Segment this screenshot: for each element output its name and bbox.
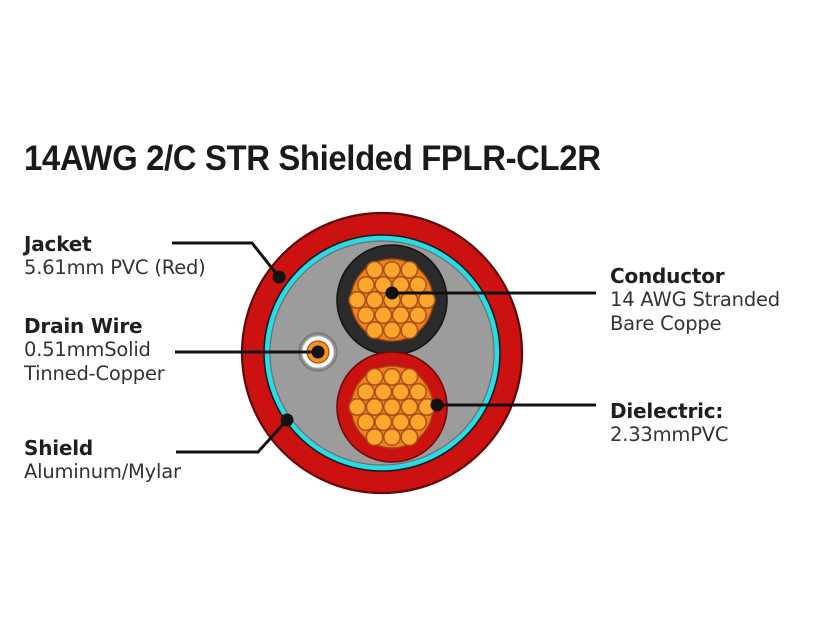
callout-shield: Shield Aluminum/Mylar	[24, 436, 181, 484]
callout-conductor-line1: 14 AWG Stranded	[610, 288, 780, 312]
conductor-top	[337, 245, 447, 355]
jacket-leader-dot	[273, 271, 286, 284]
callout-conductor-heading: Conductor	[610, 264, 780, 288]
callout-dielectric-line1: 2.33mmPVC	[610, 423, 728, 447]
callout-conductor-line2: Bare Coppe	[610, 312, 780, 336]
callout-conductor: Conductor 14 AWG Stranded Bare Coppe	[610, 264, 780, 336]
callout-jacket-heading: Jacket	[24, 232, 206, 256]
callout-shield-heading: Shield	[24, 436, 181, 460]
callout-jacket: Jacket 5.61mm PVC (Red)	[24, 232, 206, 280]
callout-drain-wire-line1: 0.51mmSolid	[24, 338, 165, 362]
callout-drain-wire: Drain Wire 0.51mmSolid Tinned-Copper	[24, 314, 165, 386]
shield-leader-dot	[281, 414, 294, 427]
callout-dielectric-heading: Dielectric:	[610, 399, 728, 423]
callout-dielectric: Dielectric: 2.33mmPVC	[610, 399, 728, 447]
callout-jacket-line1: 5.61mm PVC (Red)	[24, 256, 206, 280]
callout-drain-wire-heading: Drain Wire	[24, 314, 165, 338]
conductor-leader-dot	[386, 287, 399, 300]
callout-shield-line1: Aluminum/Mylar	[24, 460, 181, 484]
cable-cross-section-infographic: 14AWG 2/C STR Shielded FPLR-CL2R	[0, 0, 840, 630]
drain-leader-dot	[312, 346, 325, 359]
callout-drain-wire-line2: Tinned-Copper	[24, 362, 165, 386]
conductor-bottom	[337, 352, 447, 462]
dielectric-leader-dot	[431, 399, 444, 412]
